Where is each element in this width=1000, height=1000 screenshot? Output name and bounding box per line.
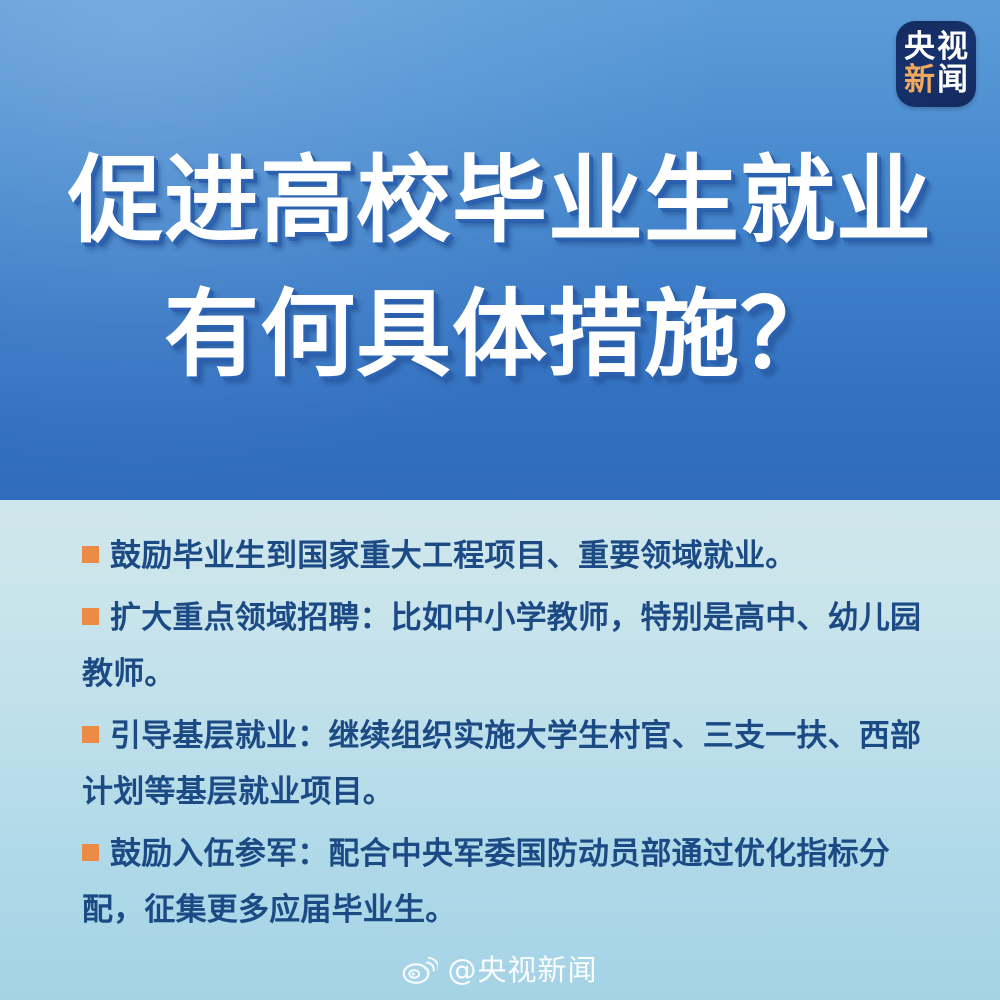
headline-block: 促进高校毕业生就业 有何具体措施？ bbox=[0, 0, 1000, 500]
headline-line-2: 有何具体措施？ bbox=[164, 277, 836, 393]
bullet-line: 鼓励毕业生到国家重大工程项目、重要领域就业。 bbox=[82, 528, 938, 584]
bullet-text: 鼓励入伍参军：配合中央军委国防动员部通过优化指标分配，征集更多应届毕业生。 bbox=[82, 836, 890, 928]
poster-header: 央 视 新 闻 促进高校毕业生就业 有何具体措施？ bbox=[0, 0, 1000, 500]
bullet-square-icon bbox=[82, 844, 99, 861]
bullet-square-icon bbox=[82, 546, 99, 563]
list-item: 鼓励入伍参军：配合中央军委国防动员部通过优化指标分配，征集更多应届毕业生。 bbox=[82, 826, 938, 938]
list-item: 鼓励毕业生到国家重大工程项目、重要领域就业。 bbox=[82, 528, 938, 584]
bullet-square-icon bbox=[82, 608, 99, 625]
poster-root: 央 视 新 闻 促进高校毕业生就业 有何具体措施？ 鼓励毕业生到国家重大工程项目… bbox=[0, 0, 1000, 1000]
bullet-line: 鼓励入伍参军：配合中央军委国防动员部通过优化指标分配，征集更多应届毕业生。 bbox=[82, 826, 938, 938]
bullet-line: 扩大重点领域招聘：比如中小学教师，特别是高中、幼儿园教师。 bbox=[82, 590, 938, 702]
bullet-line: 引导基层就业：继续组织实施大学生村官、三支一扶、西部计划等基层就业项目。 bbox=[82, 708, 938, 820]
list-item: 引导基层就业：继续组织实施大学生村官、三支一扶、西部计划等基层就业项目。 bbox=[82, 708, 938, 820]
measures-list: 鼓励毕业生到国家重大工程项目、重要领域就业。 扩大重点领域招聘：比如中小学教师，… bbox=[0, 500, 1000, 1000]
list-item: 扩大重点领域招聘：比如中小学教师，特别是高中、幼儿园教师。 bbox=[82, 590, 938, 702]
bullet-text: 引导基层就业：继续组织实施大学生村官、三支一扶、西部计划等基层就业项目。 bbox=[82, 718, 921, 810]
bullet-text: 鼓励毕业生到国家重大工程项目、重要领域就业。 bbox=[110, 538, 796, 574]
headline-line-1: 促进高校毕业生就业 bbox=[68, 143, 932, 259]
bullet-text: 扩大重点领域招聘：比如中小学教师，特别是高中、幼儿园教师。 bbox=[82, 600, 921, 692]
weibo-handle[interactable]: @央视新闻 bbox=[447, 954, 597, 986]
bullet-square-icon bbox=[82, 726, 99, 743]
footer-attribution: @央视新闻 bbox=[0, 954, 1000, 986]
weibo-icon bbox=[402, 955, 438, 985]
